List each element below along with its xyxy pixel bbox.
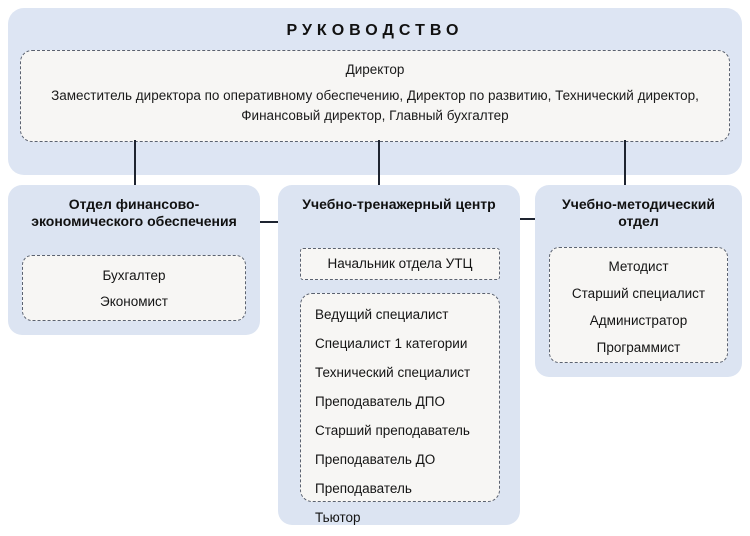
department-training-center: Учебно-тренажерный центр Начальник отдел…	[278, 185, 520, 525]
role-item: Старший преподаватель	[301, 423, 499, 438]
department-educational-methodical: Учебно-методический отдел Методист Старш…	[535, 185, 742, 377]
role-item: Экономист	[23, 294, 245, 309]
role-item: Технический специалист	[301, 365, 499, 380]
role-item: Преподаватель	[301, 481, 499, 496]
roles-box-educational-methodical: Методист Старший специалист Администрато…	[549, 247, 728, 363]
leadership-roles-box: Директор Заместитель директора по операт…	[20, 50, 730, 142]
department-title-educational-methodical: Учебно-методический отдел	[535, 185, 742, 230]
roles-box-training-center-head: Начальник отдела УТЦ	[300, 248, 500, 280]
role-item: Методист	[550, 259, 727, 274]
role-item: Тьютор	[301, 510, 499, 525]
connector-leadership-to-financial	[134, 140, 136, 186]
role-director: Директор	[21, 62, 729, 77]
role-item: Преподаватель ДО	[301, 452, 499, 467]
role-deputies: Заместитель директора по оперативному об…	[21, 86, 729, 125]
department-financial-economic: Отдел финансово-экономического обеспечен…	[8, 185, 260, 335]
role-item: Преподаватель ДПО	[301, 394, 499, 409]
roles-box-training-center-staff: Ведущий специалист Специалист 1 категори…	[300, 293, 500, 502]
connector-training-to-methodical	[519, 218, 536, 220]
role-item: Бухгалтер	[23, 268, 245, 283]
role-item: Специалист 1 категории	[301, 336, 499, 351]
role-item: Старший специалист	[550, 286, 727, 301]
page-title: РУКОВОДСТВО	[8, 22, 742, 40]
org-chart-canvas: РУКОВОДСТВО Директор Заместитель директо…	[0, 0, 750, 536]
role-item: Программист	[550, 340, 727, 355]
department-title-financial-economic: Отдел финансово-экономического обеспечен…	[8, 185, 260, 230]
connector-leadership-to-training	[378, 140, 380, 186]
connector-leadership-to-methodical	[624, 140, 626, 186]
connector-financial-to-training	[260, 221, 279, 223]
role-item: Администратор	[550, 313, 727, 328]
leadership-panel: РУКОВОДСТВО Директор Заместитель директо…	[8, 8, 742, 175]
roles-box-financial-economic: Бухгалтер Экономист	[22, 255, 246, 321]
role-item: Ведущий специалист	[301, 307, 499, 322]
role-item: Начальник отдела УТЦ	[301, 256, 499, 271]
department-title-training-center: Учебно-тренажерный центр	[278, 185, 520, 213]
